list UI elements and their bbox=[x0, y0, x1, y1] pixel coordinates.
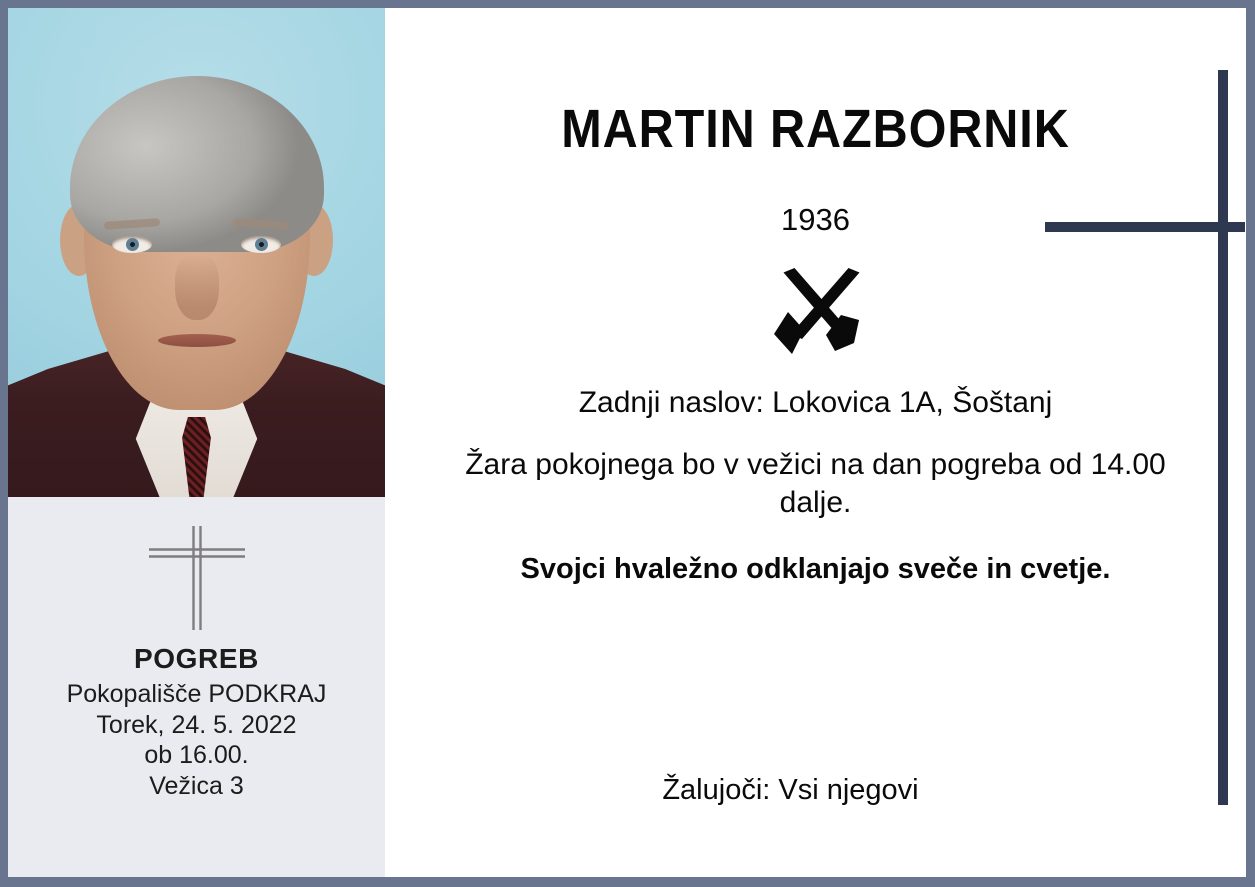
main-panel: MARTIN RAZBORNIK 1936 Zadnji naslov: Lok… bbox=[385, 8, 1246, 877]
funeral-time: ob 16.00. bbox=[67, 740, 327, 771]
funeral-detail-lines: Pokopališče PODKRAJ Torek, 24. 5. 2022 o… bbox=[67, 679, 327, 801]
portrait-eye-left bbox=[112, 236, 152, 253]
christian-cross-icon bbox=[147, 524, 247, 632]
left-panel: POGREB Pokopališče PODKRAJ Torek, 24. 5.… bbox=[8, 8, 385, 877]
deceased-name: MARTIN RAZBORNIK bbox=[455, 98, 1176, 160]
portrait-nose bbox=[175, 254, 219, 320]
funeral-date: Torek, 24. 5. 2022 bbox=[67, 710, 327, 741]
urn-note: Žara pokojnega bo v vežici na dan pogreb… bbox=[415, 446, 1216, 523]
funeral-chapel: Vežica 3 bbox=[67, 771, 327, 802]
funeral-heading: POGREB bbox=[134, 643, 259, 675]
crossed-mallet-and-pick-mining-icon bbox=[760, 268, 872, 356]
portrait-mouth bbox=[158, 334, 236, 347]
mourners-line: Žalujoči: Vsi njegovi bbox=[385, 774, 1246, 807]
funeral-cemetery: Pokopališče PODKRAJ bbox=[67, 679, 327, 710]
last-address: Zadnji naslov: Lokovica 1A, Šoštanj bbox=[415, 386, 1216, 420]
memorial-notice-card: POGREB Pokopališče PODKRAJ Torek, 24. 5.… bbox=[0, 0, 1255, 887]
decline-flowers-note: Svojci hvaležno odklanjajo sveče in cvet… bbox=[415, 553, 1216, 586]
funeral-details-block: POGREB Pokopališče PODKRAJ Torek, 24. 5.… bbox=[8, 497, 385, 877]
main-content: MARTIN RAZBORNIK 1936 Zadnji naslov: Lok… bbox=[385, 98, 1246, 586]
portrait-eye-right bbox=[241, 236, 281, 253]
portrait-photo bbox=[8, 8, 385, 497]
birth-year: 1936 bbox=[415, 202, 1216, 238]
